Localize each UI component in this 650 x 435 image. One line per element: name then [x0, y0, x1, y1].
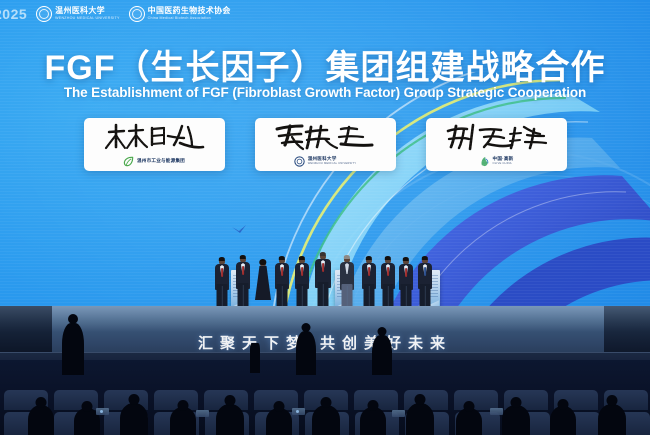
seat [454, 390, 498, 410]
audience-silhouette [456, 408, 482, 435]
stage-participants [0, 226, 650, 310]
screen-glow [296, 410, 299, 413]
signature-card-row: 温州市工业与能源集团 [0, 118, 650, 171]
card-org-name-en: OLIVE CHINA [493, 163, 514, 166]
audience-silhouette [120, 403, 148, 435]
screen-glow [100, 410, 103, 413]
organizer-name-en: China Medical Biotech Association [148, 17, 231, 21]
card-org-logo: 温州市工业与能源集团 [84, 156, 225, 167]
audience-silhouette [266, 408, 292, 435]
card-org-logo: 温州医科大学 WENZHOU MEDICAL UNIVERSITY [255, 156, 396, 167]
photographer-silhouette [296, 331, 316, 375]
organizer-name-cn: 中国医药生物技术协会 [148, 7, 231, 15]
signature-card: 温州市工业与能源集团 [84, 118, 225, 171]
organizer-wenzhou-medical-university: 温州医科大学 WENZHOU MEDICAL UNIVERSITY [36, 6, 119, 22]
card-org-name-cn: 温州市工业与能源集团 [137, 159, 185, 164]
audience-silhouette [170, 407, 196, 435]
event-title-en: The Establishment of FGF (Fibroblast Gro… [0, 85, 650, 100]
event-title-cn: FGF（生长因子）集团组建战略合作 [0, 40, 650, 89]
calligraphy-signature [273, 123, 377, 151]
year-mark: 2025 [0, 6, 27, 22]
leaf-mark-icon [123, 156, 134, 167]
card-org-name-en: WENZHOU MEDICAL UNIVERSITY [308, 163, 357, 166]
organizer-logo-bar: 2025 温州医科大学 WENZHOU MEDICAL UNIVERSITY 中… [0, 3, 231, 25]
organizer-name-en: WENZHOU MEDICAL UNIVERSITY [55, 17, 119, 21]
university-seal-icon [294, 156, 305, 167]
audience-silhouette [216, 404, 244, 435]
laptop [196, 410, 209, 417]
university-seal-icon [36, 6, 52, 22]
laptop [392, 410, 405, 417]
camera-operator-silhouette [62, 323, 84, 375]
organizer-name-cn: 温州医科大学 [55, 7, 119, 15]
audience-silhouette [360, 407, 386, 435]
card-org-logo: 中国·高新 OLIVE CHINA [426, 156, 567, 167]
conference-stage-photo: 2025 温州医科大学 WENZHOU MEDICAL UNIVERSITY 中… [0, 0, 650, 435]
association-seal-icon [129, 6, 145, 22]
audience-area [0, 360, 650, 435]
audience-silhouette [312, 405, 340, 435]
audience-silhouette [406, 403, 434, 435]
photographer-silhouette [372, 335, 392, 375]
bird-mark-icon [479, 156, 490, 167]
signature-card: 中国·高新 OLIVE CHINA [426, 118, 567, 171]
organizer-china-medical-biotech-association: 中国医药生物技术协会 China Medical Biotech Associa… [129, 6, 231, 22]
laptop [490, 408, 503, 415]
audience-silhouette [502, 405, 530, 435]
audience-silhouette [598, 404, 626, 435]
calligraphy-signature [444, 123, 548, 151]
signature-card: 温州医科大学 WENZHOU MEDICAL UNIVERSITY [255, 118, 396, 171]
audience-silhouette [550, 406, 576, 435]
audience-silhouette [28, 405, 54, 435]
seat [154, 390, 198, 410]
calligraphy-signature [102, 123, 206, 151]
camera-tripod-silhouette [250, 343, 260, 373]
